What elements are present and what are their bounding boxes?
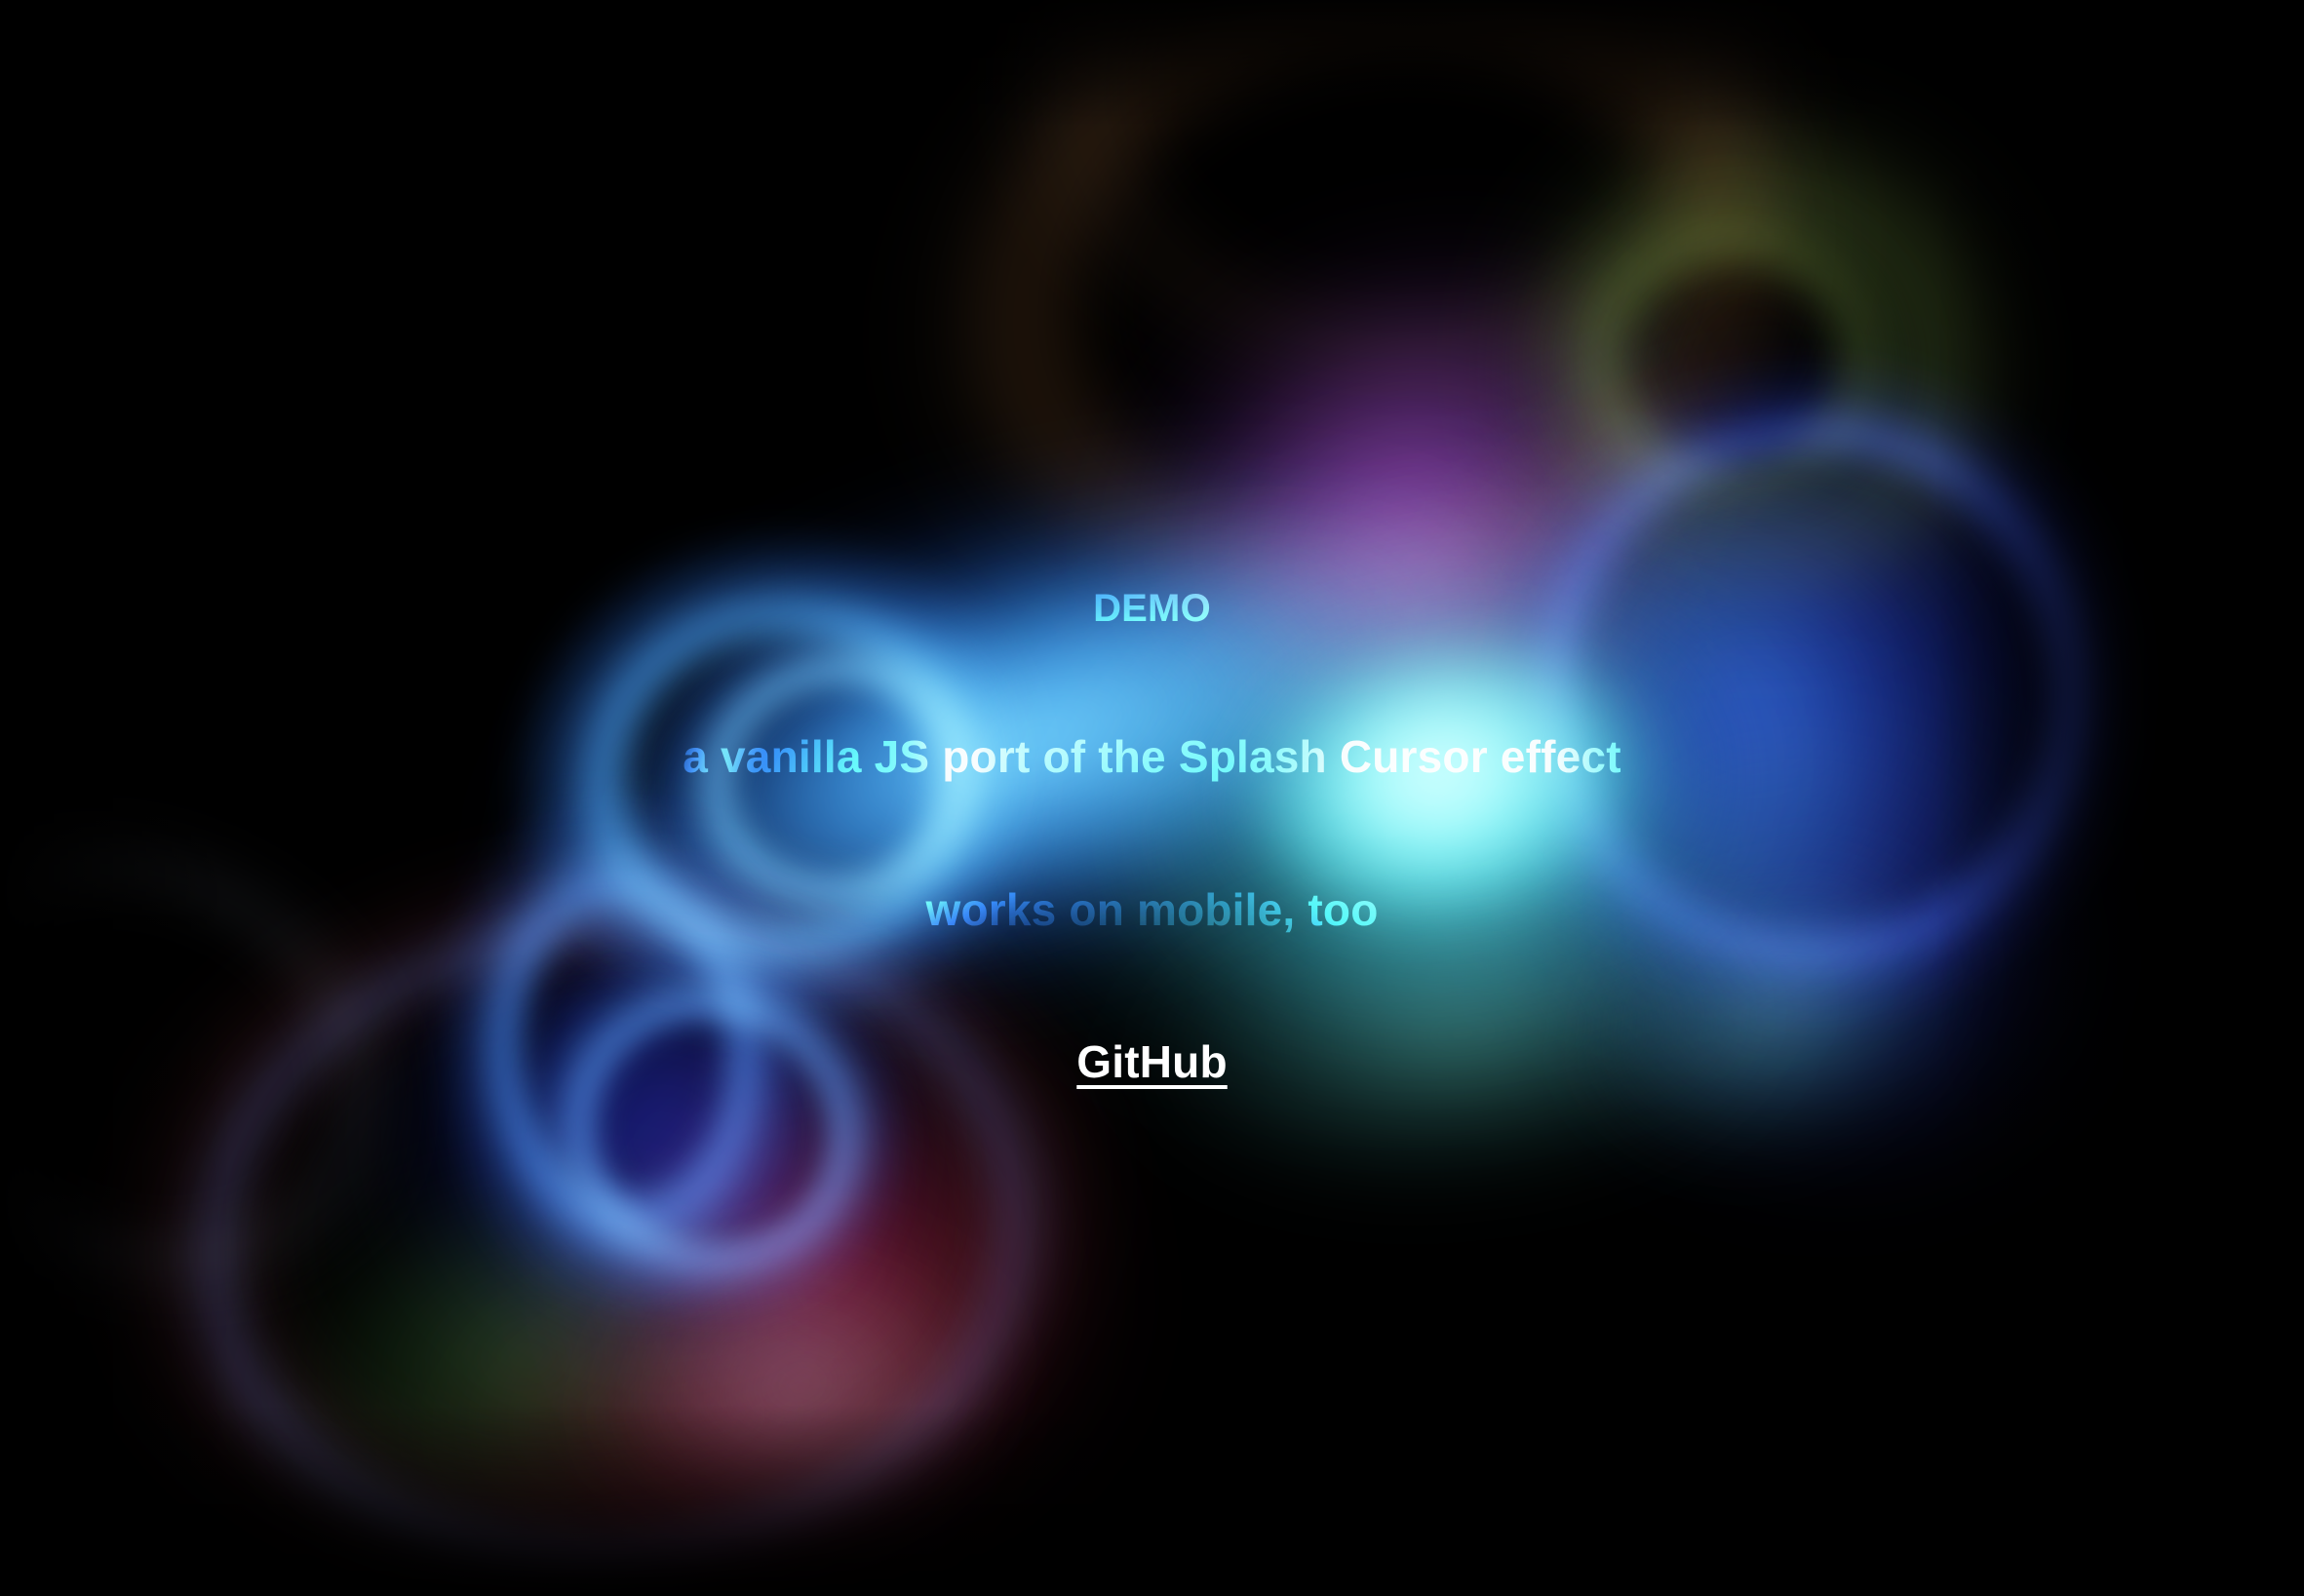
fluid-blob-cyan-core <box>1075 483 1829 1116</box>
tagline-port-description: a vanilla JS port of the Splash Cursor e… <box>683 730 1621 784</box>
demo-page: DEMO a vanilla JS port of the Splash Cur… <box>0 0 2304 1596</box>
github-link[interactable]: GitHub <box>1076 1035 1228 1089</box>
fluid-blob-top-dim <box>975 0 1833 429</box>
fluid-blob-bl-crimson <box>455 901 1222 1596</box>
fluid-blob-bl-lavender <box>542 1169 1058 1596</box>
fluid-blob-royal-upper <box>1239 211 2272 1193</box>
fluid-blob-bl-outer-dark <box>8 747 1200 1596</box>
fluid-blob-outer-ring <box>777 0 1973 796</box>
fluid-blob-olive-arc <box>1521 166 1940 556</box>
fluid-blob-bl-navy <box>269 755 1056 1526</box>
fluid-simulation-canvas[interactable] <box>0 0 2304 1596</box>
fluid-blob-left-faint <box>0 704 525 1421</box>
fluid-blob-bl-crimson-deep <box>398 1208 1027 1596</box>
fluid-blob-bl-green <box>186 1082 867 1596</box>
fluid-blob-royal-lower-right <box>1400 548 2228 1304</box>
fluid-blob-bl-rim <box>111 831 1117 1596</box>
page-title: DEMO <box>1093 585 1211 632</box>
fluid-blob-royal-edge <box>1472 351 2155 1033</box>
fluid-blob-bl-blue-hook <box>449 874 974 1388</box>
fluid-blob-teal-tail-right <box>1507 782 2043 1247</box>
fluid-blob-bl-blue-streak <box>410 767 838 1340</box>
fluid-blob-olive-swirl <box>1365 0 2165 770</box>
fluid-blob-magenta-tail <box>1146 332 1760 877</box>
tagline-mobile-support: works on mobile, too <box>925 883 1378 937</box>
